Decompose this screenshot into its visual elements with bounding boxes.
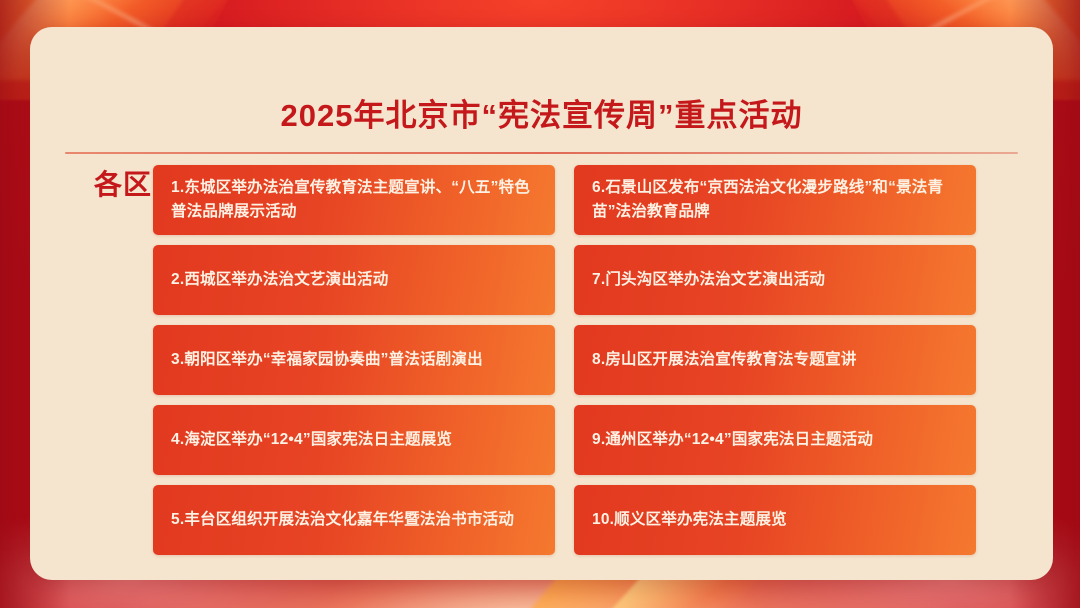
activity-item-text: 2.西城区举办法治文艺演出活动 — [171, 268, 539, 292]
activity-item-text: 6.石景山区发布“京西法治文化漫步路线”和“景法青苗”法治教育品牌 — [592, 176, 960, 224]
poster-root: 2025年北京市“宪法宣传周”重点活动 各区 1.东城区举办法治宣传教育法主题宣… — [0, 0, 1080, 608]
activity-item[interactable]: 8.房山区开展法治宣传教育法专题宣讲 — [574, 325, 976, 395]
activity-item-text: 3.朝阳区举办“幸福家园协奏曲”普法话剧演出 — [171, 348, 539, 372]
activity-column-left: 1.东城区举办法治宣传教育法主题宣讲、“八五”特色普法品牌展示活动 2.西城区举… — [153, 165, 555, 555]
activity-item[interactable]: 3.朝阳区举办“幸福家园协奏曲”普法话剧演出 — [153, 325, 555, 395]
activity-item[interactable]: 2.西城区举办法治文艺演出活动 — [153, 245, 555, 315]
activity-item-text: 8.房山区开展法治宣传教育法专题宣讲 — [592, 348, 960, 372]
content-card: 2025年北京市“宪法宣传周”重点活动 各区 1.东城区举办法治宣传教育法主题宣… — [30, 27, 1053, 580]
activity-item[interactable]: 6.石景山区发布“京西法治文化漫步路线”和“景法青苗”法治教育品牌 — [574, 165, 976, 235]
content-body: 各区 1.东城区举办法治宣传教育法主题宣讲、“八五”特色普法品牌展示活动 2.西… — [30, 165, 1053, 565]
activity-item[interactable]: 7.门头沟区举办法治文艺演出活动 — [574, 245, 976, 315]
activity-column-right: 6.石景山区发布“京西法治文化漫步路线”和“景法青苗”法治教育品牌 7.门头沟区… — [574, 165, 976, 555]
activity-item-text: 9.通州区举办“12•4”国家宪法日主题活动 — [592, 428, 960, 452]
activity-item-text: 1.东城区举办法治宣传教育法主题宣讲、“八五”特色普法品牌展示活动 — [171, 176, 539, 224]
title-divider — [65, 152, 1018, 154]
activity-item[interactable]: 4.海淀区举办“12•4”国家宪法日主题展览 — [153, 405, 555, 475]
page-title: 2025年北京市“宪法宣传周”重点活动 — [30, 90, 1053, 135]
activity-columns: 1.东城区举办法治宣传教育法主题宣讲、“八五”特色普法品牌展示活动 2.西城区举… — [153, 165, 976, 555]
activity-item[interactable]: 1.东城区举办法治宣传教育法主题宣讲、“八五”特色普法品牌展示活动 — [153, 165, 555, 235]
activity-item-text: 10.顺义区举办宪法主题展览 — [592, 508, 960, 532]
activity-item-text: 7.门头沟区举办法治文艺演出活动 — [592, 268, 960, 292]
activity-item-text: 4.海淀区举办“12•4”国家宪法日主题展览 — [171, 428, 539, 452]
section-side-label: 各区 — [92, 167, 154, 202]
activity-item[interactable]: 5.丰台区组织开展法治文化嘉年华暨法治书市活动 — [153, 485, 555, 555]
activity-item-text: 5.丰台区组织开展法治文化嘉年华暨法治书市活动 — [171, 508, 539, 532]
activity-item[interactable]: 9.通州区举办“12•4”国家宪法日主题活动 — [574, 405, 976, 475]
activity-item[interactable]: 10.顺义区举办宪法主题展览 — [574, 485, 976, 555]
